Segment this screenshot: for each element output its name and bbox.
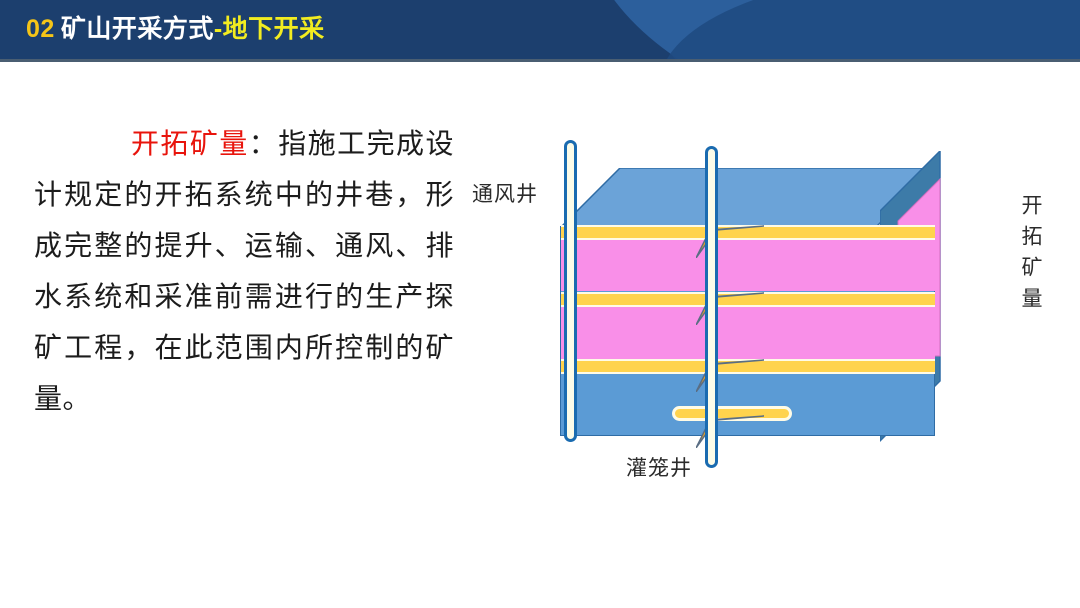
definition-term: 开拓矿量 bbox=[130, 128, 249, 159]
definition-paragraph: 开拓矿量：指施工完成设计规定的开拓系统中的井巷，形成完整的提升、运输、通风、排水… bbox=[34, 118, 454, 424]
slide-header-bar: 02矿山开采方式-地下开采 bbox=[0, 0, 1080, 59]
ore-body-block bbox=[460, 96, 1080, 496]
section-title-main: 矿山开采方式 bbox=[61, 15, 214, 43]
section-title-sub: -地下开采 bbox=[214, 15, 325, 43]
definition-body: 指施工完成设计规定的开拓系统中的井巷，形成完整的提升、运输、通风、排水系统和采准… bbox=[34, 128, 454, 414]
cage-shaft bbox=[705, 146, 718, 468]
ventilation-shaft bbox=[564, 140, 577, 442]
definition-colon: ： bbox=[249, 128, 278, 159]
label-ventilation-shaft: 通风井 bbox=[472, 178, 538, 208]
block-top-face bbox=[560, 168, 935, 228]
label-cage-shaft: 灌笼井 bbox=[626, 452, 692, 482]
mine-diagram: 通风井 灌笼井 开拓矿量 bbox=[460, 96, 1080, 496]
label-development-ore-reserve: 开拓矿量 bbox=[1020, 194, 1041, 318]
section-number: 02 bbox=[26, 15, 55, 43]
page-title: 02矿山开采方式-地下开采 bbox=[26, 6, 325, 52]
header-bottom-rule bbox=[0, 59, 1080, 62]
